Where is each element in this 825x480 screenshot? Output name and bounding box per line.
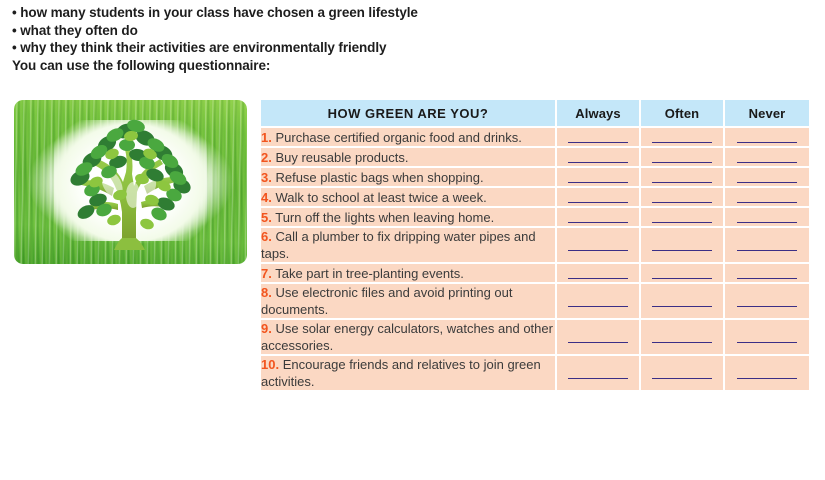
- table-row: 1. Purchase certified organic food and d…: [261, 126, 809, 146]
- column-header-never: Never: [725, 100, 809, 126]
- question-cell: 4. Walk to school at least twice a week.: [261, 186, 557, 206]
- answer-blank-line[interactable]: [652, 342, 712, 343]
- answer-blank-line[interactable]: [652, 202, 712, 203]
- question-text: Turn off the lights when leaving home.: [275, 210, 494, 225]
- answer-blank-line[interactable]: [652, 306, 712, 307]
- answer-cell-often[interactable]: [641, 166, 725, 186]
- answer-cell-never[interactable]: [725, 282, 809, 318]
- answer-cell-never[interactable]: [725, 206, 809, 226]
- answer-blank-line[interactable]: [568, 162, 628, 163]
- answer-blank-line[interactable]: [568, 182, 628, 183]
- question-number: 4.: [261, 190, 272, 205]
- answer-cell-always[interactable]: [557, 318, 641, 354]
- answer-cell-often[interactable]: [641, 282, 725, 318]
- question-cell: 10. Encourage friends and relatives to j…: [261, 354, 557, 390]
- answer-blank-line[interactable]: [568, 278, 628, 279]
- answer-cell-always[interactable]: [557, 146, 641, 166]
- intro-line-1: • how many students in your class have c…: [12, 4, 652, 22]
- column-header-often: Often: [641, 100, 725, 126]
- answer-cell-never[interactable]: [725, 354, 809, 390]
- header-row: HOW GREEN ARE YOU? Always Often Never: [261, 100, 809, 126]
- answer-cell-never[interactable]: [725, 186, 809, 206]
- table-header: HOW GREEN ARE YOU? Always Often Never: [261, 100, 809, 126]
- question-text: Purchase certified organic food and drin…: [275, 130, 521, 145]
- table-row: 2. Buy reusable products.: [261, 146, 809, 166]
- answer-blank-line[interactable]: [568, 142, 628, 143]
- answer-cell-often[interactable]: [641, 226, 725, 262]
- answer-blank-line[interactable]: [568, 378, 628, 379]
- answer-blank-line[interactable]: [652, 142, 712, 143]
- table-row: 4. Walk to school at least twice a week.: [261, 186, 809, 206]
- answer-blank-line[interactable]: [652, 182, 712, 183]
- answer-cell-often[interactable]: [641, 354, 725, 390]
- answer-cell-often[interactable]: [641, 262, 725, 282]
- answer-cell-never[interactable]: [725, 262, 809, 282]
- answer-blank-line[interactable]: [737, 142, 797, 143]
- question-cell: 7. Take part in tree-planting events.: [261, 262, 557, 282]
- answer-cell-often[interactable]: [641, 146, 725, 166]
- question-text: Call a plumber to fix dripping water pip…: [261, 229, 536, 261]
- answer-blank-line[interactable]: [568, 250, 628, 251]
- answer-blank-line[interactable]: [652, 278, 712, 279]
- answer-cell-always[interactable]: [557, 166, 641, 186]
- tree-icon: [14, 100, 247, 264]
- question-number: 6.: [261, 229, 272, 244]
- answer-cell-always[interactable]: [557, 206, 641, 226]
- question-cell: 5. Turn off the lights when leaving home…: [261, 206, 557, 226]
- answer-cell-always[interactable]: [557, 282, 641, 318]
- answer-blank-line[interactable]: [737, 378, 797, 379]
- question-number: 9.: [261, 321, 272, 336]
- table-body: 1. Purchase certified organic food and d…: [261, 126, 809, 390]
- column-header-question: HOW GREEN ARE YOU?: [261, 100, 557, 126]
- intro-line-4: You can use the following questionnaire:: [12, 57, 652, 75]
- question-number: 5.: [261, 210, 272, 225]
- answer-cell-never[interactable]: [725, 166, 809, 186]
- question-cell: 8. Use electronic files and avoid printi…: [261, 282, 557, 318]
- question-cell: 6. Call a plumber to fix dripping water …: [261, 226, 557, 262]
- question-text: Walk to school at least twice a week.: [275, 190, 486, 205]
- answer-blank-line[interactable]: [737, 278, 797, 279]
- question-text: Use solar energy calculators, watches an…: [261, 321, 553, 353]
- table-row: 9. Use solar energy calculators, watches…: [261, 318, 809, 354]
- intro-text-block: • how many students in your class have c…: [12, 4, 652, 74]
- question-number: 10.: [261, 357, 279, 372]
- question-number: 8.: [261, 285, 272, 300]
- answer-cell-never[interactable]: [725, 126, 809, 146]
- answer-cell-always[interactable]: [557, 186, 641, 206]
- answer-blank-line[interactable]: [568, 202, 628, 203]
- answer-blank-line[interactable]: [652, 222, 712, 223]
- table-row: 8. Use electronic files and avoid printi…: [261, 282, 809, 318]
- answer-blank-line[interactable]: [652, 378, 712, 379]
- answer-cell-always[interactable]: [557, 354, 641, 390]
- answer-cell-often[interactable]: [641, 186, 725, 206]
- table-row: 6. Call a plumber to fix dripping water …: [261, 226, 809, 262]
- question-number: 7.: [261, 266, 272, 281]
- answer-blank-line[interactable]: [568, 222, 628, 223]
- question-text: Refuse plastic bags when shopping.: [275, 170, 483, 185]
- table-row: 10. Encourage friends and relatives to j…: [261, 354, 809, 390]
- answer-cell-often[interactable]: [641, 206, 725, 226]
- answer-blank-line[interactable]: [652, 250, 712, 251]
- answer-blank-line[interactable]: [737, 250, 797, 251]
- question-cell: 3. Refuse plastic bags when shopping.: [261, 166, 557, 186]
- table-row: 5. Turn off the lights when leaving home…: [261, 206, 809, 226]
- table-row: 7. Take part in tree-planting events.: [261, 262, 809, 282]
- column-header-always: Always: [557, 100, 641, 126]
- question-cell: 9. Use solar energy calculators, watches…: [261, 318, 557, 354]
- question-number: 1.: [261, 130, 272, 145]
- question-text: Take part in tree-planting events.: [275, 266, 464, 281]
- answer-blank-line[interactable]: [737, 306, 797, 307]
- question-number: 2.: [261, 150, 272, 165]
- how-green-are-you-questionnaire: HOW GREEN ARE YOU? Always Often Never 1.…: [261, 100, 809, 390]
- question-cell: 2. Buy reusable products.: [261, 146, 557, 166]
- answer-cell-never[interactable]: [725, 318, 809, 354]
- intro-line-3: • why they think their activities are en…: [12, 39, 652, 57]
- table-row: 3. Refuse plastic bags when shopping.: [261, 166, 809, 186]
- answer-blank-line[interactable]: [568, 342, 628, 343]
- answer-cell-often[interactable]: [641, 318, 725, 354]
- answer-cell-always[interactable]: [557, 126, 641, 146]
- answer-blank-line[interactable]: [737, 182, 797, 183]
- question-cell: 1. Purchase certified organic food and d…: [261, 126, 557, 146]
- answer-cell-often[interactable]: [641, 126, 725, 146]
- answer-cell-never[interactable]: [725, 226, 809, 262]
- question-text: Use electronic files and avoid printing …: [261, 285, 513, 317]
- answer-cell-never[interactable]: [725, 146, 809, 166]
- answer-cell-always[interactable]: [557, 262, 641, 282]
- answer-blank-line[interactable]: [737, 162, 797, 163]
- answer-blank-line[interactable]: [737, 342, 797, 343]
- answer-blank-line[interactable]: [652, 162, 712, 163]
- question-text: Buy reusable products.: [275, 150, 408, 165]
- green-tree-illustration: [14, 100, 247, 264]
- question-number: 3.: [261, 170, 272, 185]
- answer-blank-line[interactable]: [737, 202, 797, 203]
- answer-blank-line[interactable]: [568, 306, 628, 307]
- answer-blank-line[interactable]: [737, 222, 797, 223]
- answer-cell-always[interactable]: [557, 226, 641, 262]
- question-text: Encourage friends and relatives to join …: [261, 357, 541, 389]
- intro-line-2: • what they often do: [12, 22, 652, 40]
